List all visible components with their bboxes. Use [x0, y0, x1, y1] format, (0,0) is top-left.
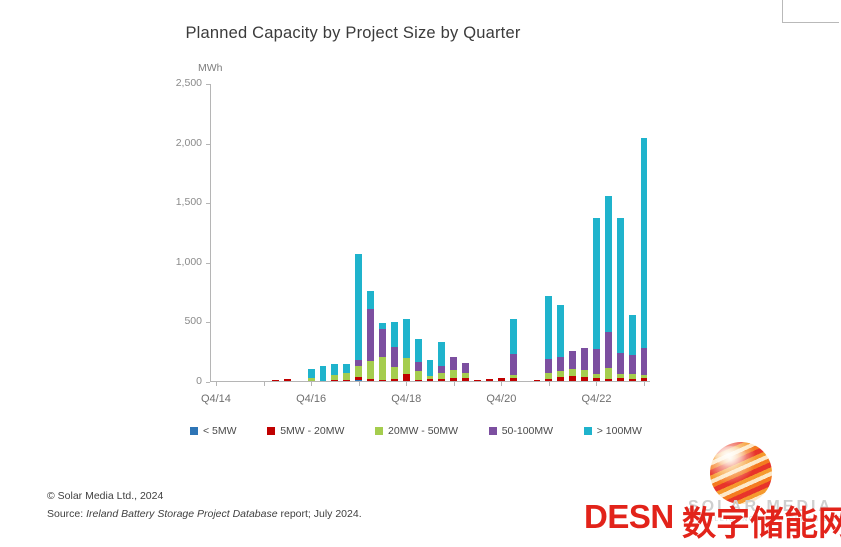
bar-segment-gt100mw	[343, 364, 350, 373]
bar-segment-mw50_100	[367, 309, 374, 361]
legend-item[interactable]: 50-100MW	[489, 425, 553, 437]
legend-label: > 100MW	[597, 425, 642, 437]
bar-segment-mw50_100	[629, 355, 636, 374]
y-axis-tick-label: 0	[196, 375, 202, 387]
bar-segment-mw50_100	[569, 351, 576, 369]
bar-segment-mw5_20	[474, 380, 481, 381]
bar-segment-mw20_50	[403, 358, 410, 373]
bar-segment-mw20_50	[605, 368, 612, 379]
bar-segment-gt100mw	[403, 319, 410, 358]
y-axis-tick-mark	[206, 203, 210, 204]
legend-swatch-icon	[489, 427, 497, 435]
footer-source: Source: Ireland Battery Storage Project …	[47, 505, 362, 523]
bar-segment-lt5mw	[355, 380, 362, 381]
bar-segment-mw20_50	[569, 369, 576, 376]
bar-segment-mw5_20	[605, 379, 612, 381]
watermark: SOLAR MEDIA INTELLIGENCE FOR CLEAN ENERG…	[570, 440, 835, 545]
bar-segment-mw5_20	[403, 374, 410, 381]
legend-item[interactable]: 20MW - 50MW	[375, 425, 458, 437]
legend-swatch-icon	[584, 427, 592, 435]
bar-segment-mw50_100	[462, 363, 469, 373]
bar-segment-mw5_20	[629, 379, 636, 381]
bar-stack	[581, 348, 588, 381]
bar-segment-mw5_20	[498, 378, 505, 381]
bar-segment-mw5_20	[331, 380, 338, 381]
x-axis-tick-mark	[406, 382, 407, 386]
bar-stack	[320, 366, 327, 381]
bar-stack	[343, 364, 350, 381]
bar-stack	[617, 218, 624, 381]
footer-copyright: © Solar Media Ltd., 2024	[47, 487, 362, 505]
bar-segment-mw5_20	[438, 379, 445, 381]
bar-segment-mw50_100	[641, 348, 648, 375]
bar-stack	[462, 363, 469, 381]
x-axis-tick-label: Q4/22	[582, 393, 612, 405]
bar-segment-gt100mw	[320, 366, 327, 381]
bar-stack	[355, 254, 362, 381]
bar-segment-mw5_20	[391, 379, 398, 381]
legend-item[interactable]: > 100MW	[584, 425, 642, 437]
bar-segment-mw5_20	[557, 377, 564, 381]
y-axis-tick-label: 2,500	[176, 77, 202, 89]
bar-segment-mw5_20	[379, 380, 386, 381]
bar-stack	[308, 369, 315, 381]
bar-segment-gt100mw	[593, 218, 600, 349]
legend-label: < 5MW	[203, 425, 237, 437]
bar-segment-mw5_20	[462, 378, 469, 381]
crop-mark	[782, 0, 839, 23]
bar-segment-mw50_100	[391, 347, 398, 367]
bar-segment-mw20_50	[343, 373, 350, 380]
bar-segment-mw50_100	[450, 357, 457, 370]
footer-source-suffix: report; July 2024.	[278, 508, 362, 520]
bar-segment-gt100mw	[629, 315, 636, 354]
bar-segment-mw50_100	[438, 366, 445, 373]
bar-segment-gt100mw	[438, 342, 445, 366]
bar-segment-mw50_100	[593, 349, 600, 374]
bar-stack	[569, 351, 576, 381]
bar-segment-gt100mw	[367, 291, 374, 309]
y-axis-tick-label: 500	[184, 315, 202, 327]
bar-stack	[545, 296, 552, 381]
x-axis-tick-label: Q4/20	[486, 393, 516, 405]
chart-plot-area: MWh 05001,0001,5002,0002,500 Q4/14Q4/16Q…	[168, 62, 658, 392]
bar-stack	[450, 357, 457, 381]
bar-stack	[438, 342, 445, 381]
y-axis-tick-mark	[206, 322, 210, 323]
bar-segment-mw5_20	[367, 379, 374, 381]
bar-segment-mw5_20	[343, 380, 350, 381]
x-axis-tick-label: Q4/18	[391, 393, 421, 405]
x-axis-tick-mark	[501, 382, 502, 386]
bar-segment-mw20_50	[367, 361, 374, 379]
bar-stack	[272, 380, 279, 381]
legend-label: 5MW - 20MW	[280, 425, 344, 437]
y-axis-tick-label: 1,500	[176, 196, 202, 208]
bar-segment-mw50_100	[545, 359, 552, 373]
y-axis-tick-label: 1,000	[176, 256, 202, 268]
x-axis-minor-tick-mark	[454, 382, 455, 386]
x-axis-minor-tick-mark	[264, 382, 265, 386]
solar-media-globe-icon	[710, 442, 772, 504]
bar-stack	[403, 319, 410, 381]
x-axis-tick-label: Q4/14	[201, 393, 231, 405]
bar-stack	[427, 360, 434, 381]
bar-segment-mw50_100	[581, 348, 588, 369]
x-axis-tick-mark	[311, 382, 312, 386]
bar-segment-mw20_50	[581, 370, 588, 378]
bar-segment-mw20_50	[391, 367, 398, 379]
bar-segment-mw5_20	[272, 380, 279, 381]
bar-stack	[605, 196, 612, 381]
x-axis-minor-tick-mark	[359, 382, 360, 386]
bar-segment-mw5_20	[569, 376, 576, 381]
bar-segment-mw5_20	[593, 378, 600, 381]
bar-stack	[379, 323, 386, 381]
y-axis-unit-label: MWh	[198, 62, 223, 74]
desn-brand-latin: DESN	[584, 498, 674, 536]
bar-segment-mw5_20	[415, 380, 422, 381]
bar-stack	[498, 378, 505, 381]
bar-segment-gt100mw	[331, 364, 338, 375]
y-axis-tick-mark	[206, 382, 210, 383]
legend-item[interactable]: 5MW - 20MW	[267, 425, 344, 437]
bar-stack	[629, 315, 636, 381]
bar-stack	[391, 322, 398, 381]
bar-segment-gt100mw	[510, 319, 517, 355]
bar-segment-mw5_20	[486, 379, 493, 381]
bar-stack	[474, 380, 481, 381]
legend-item[interactable]: < 5MW	[190, 425, 237, 437]
y-axis-tick-mark	[206, 263, 210, 264]
bar-segment-gt100mw	[355, 254, 362, 360]
bar-stack	[284, 379, 291, 381]
y-axis-tick-mark	[206, 144, 210, 145]
bar-segment-mw20_50	[379, 357, 386, 379]
bar-segment-mw50_100	[415, 362, 422, 372]
y-axis-line	[210, 84, 211, 382]
bar-segment-mw5_20	[581, 377, 588, 381]
legend-label: 20MW - 50MW	[388, 425, 458, 437]
bar-segment-gt100mw	[391, 322, 398, 347]
footer: © Solar Media Ltd., 2024 Source: Ireland…	[47, 487, 362, 524]
chart-canvas: 05001,0001,5002,0002,500 Q4/14Q4/16Q4/18…	[210, 84, 650, 382]
bar-segment-mw5_20	[450, 378, 457, 381]
bar-segment-gt100mw	[605, 196, 612, 332]
bar-stack	[510, 319, 517, 381]
bar-segment-gt100mw	[415, 339, 422, 362]
bar-segment-mw50_100	[379, 329, 386, 358]
bar-stack	[641, 138, 648, 381]
bar-segment-mw5_20	[510, 378, 517, 381]
bar-segment-mw5_20	[427, 379, 434, 381]
bar-stack	[415, 339, 422, 381]
bar-segment-mw5_20	[284, 379, 291, 381]
bar-segment-mw50_100	[617, 353, 624, 374]
chart-legend: < 5MW5MW - 20MW20MW - 50MW50-100MW> 100M…	[168, 425, 658, 437]
legend-swatch-icon	[267, 427, 275, 435]
desn-brand-chinese: 数字储能网	[682, 496, 841, 545]
legend-swatch-icon	[375, 427, 383, 435]
footer-source-prefix: Source:	[47, 508, 86, 520]
bar-stack	[486, 379, 493, 381]
legend-swatch-icon	[190, 427, 198, 435]
bar-stack	[557, 305, 564, 381]
footer-source-title: Ireland Battery Storage Project Database	[86, 508, 277, 520]
x-axis-minor-tick-mark	[549, 382, 550, 386]
y-axis-tick-label: 2,000	[176, 137, 202, 149]
bar-stack	[367, 291, 374, 381]
bar-segment-gt100mw	[557, 305, 564, 357]
bar-segment-gt100mw	[308, 369, 315, 379]
x-axis-tick-label: Q4/16	[296, 393, 326, 405]
bar-segment-mw50_100	[605, 332, 612, 368]
bar-segment-mw50_100	[510, 354, 517, 374]
bar-segment-mw5_20	[534, 380, 541, 381]
bar-segment-gt100mw	[427, 360, 434, 375]
bar-stack	[593, 218, 600, 381]
x-axis-line	[210, 381, 650, 382]
page-title: Planned Capacity by Project Size by Quar…	[0, 24, 841, 43]
bar-segment-mw20_50	[415, 371, 422, 379]
bar-segment-mw5_20	[545, 379, 552, 381]
bar-segment-gt100mw	[617, 218, 624, 353]
x-axis-minor-tick-mark	[644, 382, 645, 386]
bar-segment-gt100mw	[545, 296, 552, 359]
legend-label: 50-100MW	[502, 425, 553, 437]
bar-segment-gt100mw	[641, 138, 648, 348]
bar-segment-mw5_20	[617, 378, 624, 381]
bar-segment-mw50_100	[557, 357, 564, 371]
x-axis-tick-mark	[216, 382, 217, 386]
bar-segment-mw20_50	[308, 378, 315, 381]
bar-segment-mw20_50	[450, 370, 457, 378]
bar-stack	[331, 364, 338, 381]
x-axis-tick-mark	[596, 382, 597, 386]
y-axis-tick-mark	[206, 84, 210, 85]
bar-stack	[534, 380, 541, 381]
globe-highlight	[715, 446, 747, 467]
bar-segment-mw20_50	[355, 366, 362, 377]
bar-segment-mw5_20	[641, 378, 648, 381]
